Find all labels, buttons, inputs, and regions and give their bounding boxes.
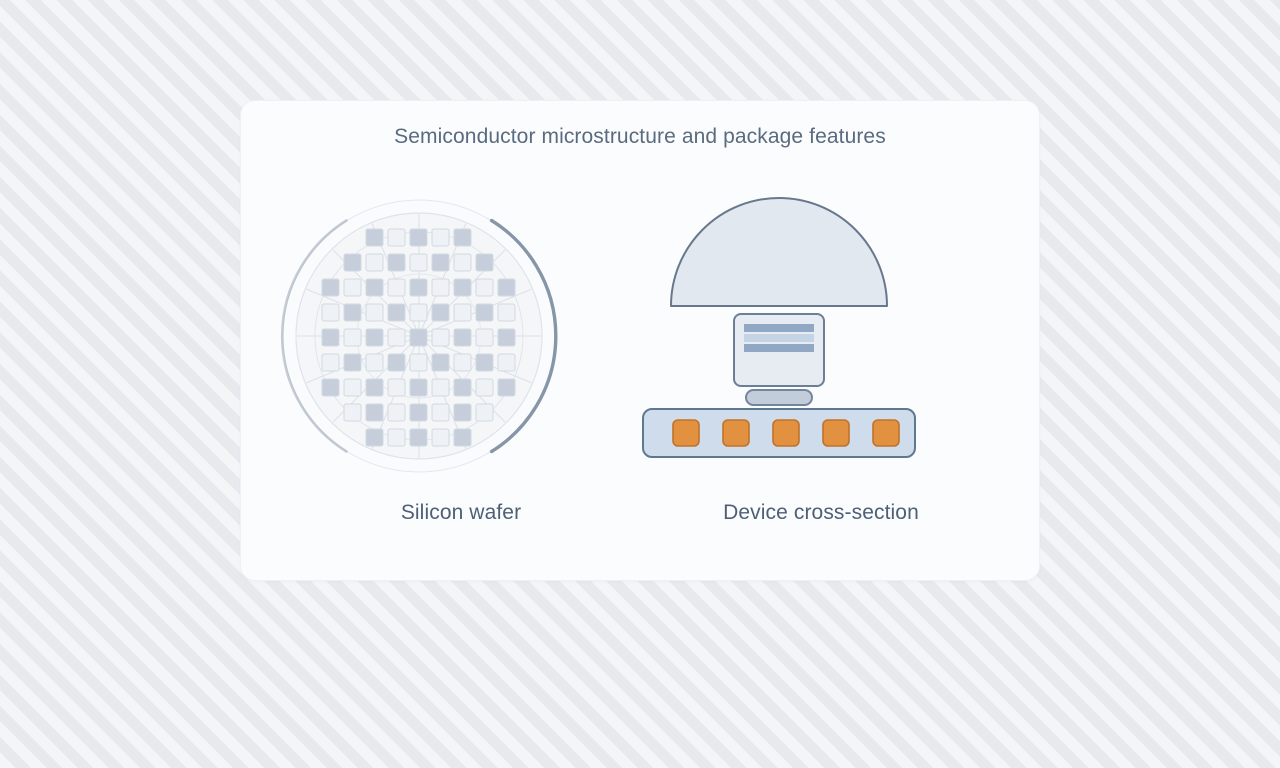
die-cell bbox=[344, 354, 361, 371]
die-cell bbox=[388, 404, 405, 421]
die-cell bbox=[476, 329, 493, 346]
die-cell bbox=[454, 404, 471, 421]
die-cell bbox=[432, 254, 449, 271]
die-cell bbox=[388, 254, 405, 271]
die-cell bbox=[432, 379, 449, 396]
die-cell bbox=[476, 279, 493, 296]
die-cell bbox=[322, 354, 339, 371]
die-cell bbox=[388, 279, 405, 296]
die-cell bbox=[410, 254, 427, 271]
contact-pad bbox=[773, 420, 799, 446]
die-cell bbox=[454, 279, 471, 296]
die-cell bbox=[476, 404, 493, 421]
encapsulation-dome bbox=[671, 198, 887, 306]
die-cell bbox=[432, 229, 449, 246]
die-cell bbox=[366, 429, 383, 446]
die-cell bbox=[454, 304, 471, 321]
contact-pad bbox=[823, 420, 849, 446]
die-cell bbox=[454, 254, 471, 271]
diagram-card: Semiconductor microstructure and package… bbox=[240, 100, 1040, 581]
screenshot-stage: Semiconductor microstructure and package… bbox=[0, 0, 1280, 768]
die-cell bbox=[410, 304, 427, 321]
die-cell bbox=[344, 329, 361, 346]
device-cross-section-diagram bbox=[641, 196, 1001, 496]
die-cell bbox=[476, 304, 493, 321]
die-cell bbox=[388, 229, 405, 246]
die-cell bbox=[322, 329, 339, 346]
panel-device-cross-section: Device cross-section bbox=[641, 196, 1001, 496]
metal-layer-1 bbox=[744, 324, 814, 332]
die-cell bbox=[410, 354, 427, 371]
die-cell bbox=[366, 229, 383, 246]
die-cell bbox=[366, 404, 383, 421]
die-cell bbox=[322, 304, 339, 321]
die-cell bbox=[388, 329, 405, 346]
die-cell bbox=[454, 329, 471, 346]
die-cell bbox=[388, 304, 405, 321]
die-cell bbox=[432, 404, 449, 421]
die-cell bbox=[476, 379, 493, 396]
die-cell bbox=[410, 404, 427, 421]
die-cell bbox=[432, 354, 449, 371]
wafer-figure bbox=[281, 196, 641, 496]
contact-pad bbox=[723, 420, 749, 446]
die-cell bbox=[498, 304, 515, 321]
die-cell bbox=[366, 379, 383, 396]
die-cell bbox=[410, 329, 427, 346]
device-figure bbox=[641, 196, 1001, 496]
die-cell bbox=[454, 354, 471, 371]
die-cell bbox=[476, 254, 493, 271]
die-cell bbox=[432, 429, 449, 446]
die-cell bbox=[388, 354, 405, 371]
die-cell bbox=[454, 379, 471, 396]
die-cell bbox=[498, 379, 515, 396]
caption-device-cross-section: Device cross-section bbox=[641, 501, 1001, 525]
die-cell bbox=[498, 279, 515, 296]
die-cell bbox=[388, 379, 405, 396]
panel-silicon-wafer: Silicon wafer bbox=[281, 196, 641, 496]
die-cell bbox=[498, 354, 515, 371]
die-cell bbox=[410, 229, 427, 246]
die-cell bbox=[432, 304, 449, 321]
die-cell bbox=[322, 279, 339, 296]
die-cell bbox=[322, 379, 339, 396]
die-cell bbox=[410, 279, 427, 296]
die-cell bbox=[366, 354, 383, 371]
die-cell bbox=[498, 329, 515, 346]
interposer-pedestal bbox=[746, 390, 812, 405]
caption-silicon-wafer: Silicon wafer bbox=[281, 501, 641, 525]
contact-pad bbox=[673, 420, 699, 446]
wafer-diagram bbox=[281, 196, 641, 496]
die-cell bbox=[476, 354, 493, 371]
die-cell bbox=[344, 254, 361, 271]
die-cell bbox=[366, 279, 383, 296]
die-cell bbox=[410, 429, 427, 446]
die-cell bbox=[388, 429, 405, 446]
die-cell bbox=[344, 304, 361, 321]
die-cell bbox=[366, 254, 383, 271]
die-grid bbox=[322, 229, 515, 446]
metal-layer-2 bbox=[744, 334, 814, 342]
die-cell bbox=[366, 329, 383, 346]
die-cell bbox=[432, 329, 449, 346]
die-cell bbox=[344, 279, 361, 296]
page-title: Semiconductor microstructure and package… bbox=[241, 125, 1039, 149]
die-cell bbox=[410, 379, 427, 396]
contact-pad bbox=[873, 420, 899, 446]
die-cell bbox=[344, 404, 361, 421]
die-cell bbox=[366, 304, 383, 321]
die-cell bbox=[344, 379, 361, 396]
die-cell bbox=[432, 279, 449, 296]
die-cell bbox=[454, 229, 471, 246]
die-cell bbox=[454, 429, 471, 446]
metal-layer-3 bbox=[744, 344, 814, 352]
